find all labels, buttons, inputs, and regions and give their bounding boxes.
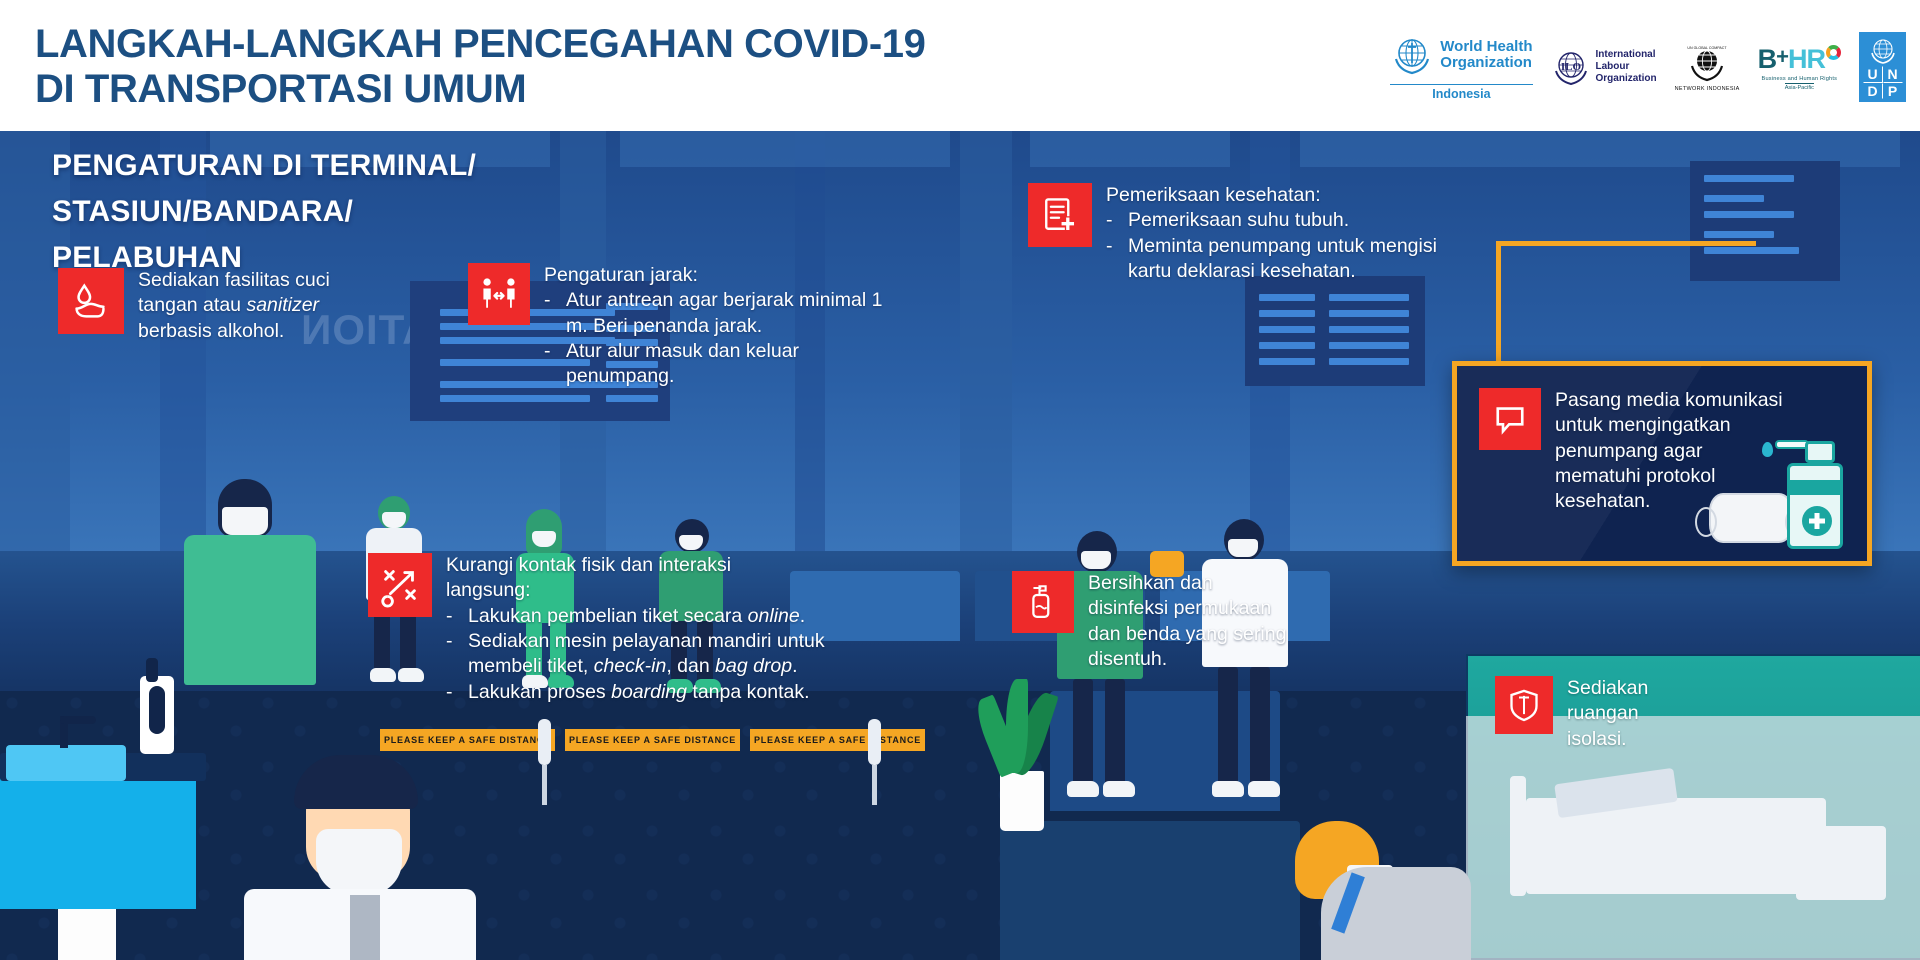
panel-hanger-vertical	[1496, 241, 1501, 366]
svg-text:ILO: ILO	[1560, 61, 1581, 73]
pillar	[960, 131, 1012, 561]
communication-panel: Pasang media komunikasi untuk mengingatk…	[1452, 361, 1872, 566]
sdg-ring-icon	[1826, 45, 1841, 60]
floor-distance-tape: PLEASE KEEP A SAFE DISTANCE	[565, 729, 740, 751]
bullet-dash: -	[446, 604, 458, 629]
health-check-bullet: - Pemeriksaan suhu tubuh.	[1106, 208, 1448, 233]
bullet-dash: -	[446, 629, 458, 680]
ungc-caption: NETWORK INDONESIA	[1675, 86, 1740, 92]
b3-em: boarding	[611, 681, 687, 703]
callout-distancing: Pengaturan jarak: - Atur antrean agar be…	[468, 263, 888, 390]
sanitizer-bottle-illustration	[1787, 463, 1843, 549]
b3-b: tanpa kontak.	[687, 681, 810, 703]
undp-letter-p: P	[1883, 83, 1903, 100]
b2-c: .	[792, 655, 797, 677]
ilo-line3: Organization	[1596, 73, 1657, 84]
bullet-text: Atur alur masuk dan keluar penumpang.	[566, 339, 888, 390]
handwash-line2-em: sanitizer	[246, 294, 319, 316]
bullet-dash: -	[1106, 234, 1118, 285]
physical-distancing-icon	[468, 263, 530, 325]
who-logo: World Health Organization Indonesia	[1390, 33, 1532, 101]
sink-basin	[6, 745, 126, 781]
undp-emblem-icon	[1869, 36, 1897, 64]
disinfect-line4: disentuh.	[1088, 647, 1286, 672]
faucet-icon	[60, 716, 68, 748]
bullet-text: Atur antrean agar berjarak minimal 1 m. …	[566, 288, 888, 339]
callout-reduce-contact: Kurangi kontak fisik dan interaksi langs…	[368, 553, 838, 705]
pump-cap	[1805, 441, 1835, 463]
window-band	[620, 131, 950, 167]
health-check-bullets: - Pemeriksaan suhu tubuh. - Meminta penu…	[1106, 208, 1448, 284]
panel-artwork	[1703, 433, 1853, 553]
floor-distance-tape: PLEASE KEEP A SAFE DISTANCE	[750, 729, 925, 751]
who-line2: Organization	[1440, 54, 1532, 71]
distancing-bullet: - Atur antrean agar berjarak minimal 1 m…	[544, 288, 888, 339]
bhr-hr: HR	[1788, 44, 1825, 75]
health-check-heading: Pemeriksaan kesehatan:	[1106, 183, 1448, 208]
reduce-contact-icon	[368, 553, 432, 617]
health-declaration-icon	[1028, 183, 1092, 247]
floor-distance-tape: PLEASE KEEP A SAFE DISTANCE	[380, 729, 555, 751]
callout-health-check-text: Pemeriksaan kesehatan: - Pemeriksaan suh…	[1106, 183, 1448, 284]
communication-line1: Pasang media komunikasi	[1555, 388, 1810, 413]
b3-a: Lakukan proses	[468, 681, 611, 703]
logo-strip: World Health Organization Indonesia ILO	[1390, 22, 1906, 112]
disinfectant-bottle-icon	[1012, 571, 1074, 633]
face-mask-illustration	[1709, 493, 1793, 543]
undp-letter-d: D	[1863, 83, 1883, 100]
callout-handwash: Sediakan fasilitas cuci tangan atau sani…	[58, 268, 398, 344]
who-logo-text: World Health Organization	[1440, 39, 1532, 70]
ilo-logo-text: International Labour Organization	[1596, 49, 1657, 86]
callout-isolation: Sediakan ruangan isolasi.	[1495, 676, 1795, 752]
bullet-dash: -	[544, 288, 556, 339]
bhr-wordmark: B + HR	[1758, 44, 1841, 75]
pump-nozzle	[1775, 440, 1809, 449]
callout-disinfect: Bersihkan dan disinfeksi permukaan dan b…	[1012, 571, 1342, 672]
bhr-plus: +	[1776, 44, 1788, 70]
b1-b: .	[800, 605, 805, 627]
poster-header: LANGKAH-LANGKAH PENCEGAHAN COVID-19 DI T…	[0, 0, 1920, 131]
svg-text:UN GLOBAL COMPACT: UN GLOBAL COMPACT	[1688, 46, 1728, 50]
callout-isolation-text: Sediakan ruangan isolasi.	[1567, 676, 1648, 752]
distancing-bullet: - Atur alur masuk dan keluar penumpang.	[544, 339, 888, 390]
reduce-contact-heading1: Kurangi kontak fisik dan interaksi	[446, 553, 838, 578]
who-line1: World Health	[1440, 38, 1532, 55]
hand-wash-icon	[58, 268, 124, 334]
poster-title: LANGKAH-LANGKAH PENCEGAHAN COVID-19 DI T…	[35, 22, 1035, 112]
isolation-line2: ruangan	[1567, 701, 1648, 726]
section-title-line2: STASIUN/BANDARA/	[52, 189, 522, 235]
section-title-line1: PENGATURAN DI TERMINAL/	[52, 143, 522, 189]
ungc-emblem-icon: UN GLOBAL COMPACT	[1686, 42, 1728, 84]
ilo-logo: ILO International Labour Organization	[1551, 47, 1657, 87]
callout-handwash-text: Sediakan fasilitas cuci tangan atau sani…	[138, 268, 330, 344]
bullet-text: Meminta penumpang untuk mengisi kartu de…	[1128, 234, 1448, 285]
wash-counter	[0, 769, 196, 909]
section-title: PENGATURAN DI TERMINAL/ STASIUN/BANDARA/…	[52, 143, 522, 281]
b1-a: Lakukan pembelian tiket secara	[468, 605, 748, 627]
queue-stanchion	[868, 719, 881, 765]
reduce-contact-bullet: - Lakukan pembelian tiket secara online.	[446, 604, 838, 629]
window-band	[1030, 131, 1230, 167]
who-country: Indonesia	[1390, 84, 1532, 101]
callout-distancing-text: Pengaturan jarak: - Atur antrean agar be…	[544, 263, 888, 390]
un-global-compact-logo: UN GLOBAL COMPACT NETWORK INDONESIA	[1675, 42, 1740, 92]
water-drop-illustration	[1762, 442, 1773, 457]
bhr-b: B	[1758, 44, 1777, 75]
infographic-poster: LANGKAH-LANGKAH PENCEGAHAN COVID-19 DI T…	[0, 0, 1920, 960]
callout-health-check: Pemeriksaan kesehatan: - Pemeriksaan suh…	[1028, 183, 1448, 284]
cleaner-figure	[1285, 821, 1475, 960]
b1-em: online	[748, 605, 800, 627]
handwash-line3: berbasis alkohol.	[138, 319, 330, 344]
handwash-line1: Sediakan fasilitas cuci	[138, 268, 330, 293]
speech-bubble-icon	[1479, 388, 1541, 450]
callout-reduce-contact-text: Kurangi kontak fisik dan interaksi langs…	[446, 553, 838, 705]
panel-hanger-horizontal	[1496, 241, 1756, 246]
bullet-dash: -	[1106, 208, 1118, 233]
ilo-line1: International	[1596, 49, 1656, 60]
who-emblem-icon	[1390, 33, 1434, 77]
poster-title-line1: LANGKAH-LANGKAH PENCEGAHAN COVID-19	[35, 22, 925, 66]
bhr-subtitle: Business and Human Rights	[1762, 76, 1838, 82]
ilo-line2: Labour	[1596, 61, 1630, 72]
staff-figure-laptop	[230, 763, 500, 960]
undp-letters: U N D P	[1863, 66, 1903, 99]
reduce-contact-bullets: - Lakukan pembelian tiket secara online.…	[446, 604, 838, 705]
shield-icon	[1495, 676, 1553, 734]
ilo-emblem-icon: ILO	[1551, 47, 1591, 87]
callout-disinfect-text: Bersihkan dan disinfeksi permukaan dan b…	[1088, 571, 1286, 672]
undp-logo: U N D P	[1859, 32, 1906, 102]
queue-stanchion	[538, 719, 551, 765]
distancing-heading: Pengaturan jarak:	[544, 263, 888, 288]
passenger-figure-green-shirt	[178, 479, 338, 709]
bench	[1000, 821, 1300, 960]
distancing-bullets: - Atur antrean agar berjarak minimal 1 m…	[544, 288, 888, 389]
poster-title-line2: DI TRANSPORTASI UMUM	[35, 67, 1035, 112]
disinfect-line2: disinfeksi permukaan	[1088, 596, 1286, 621]
soap-dispenser	[140, 676, 174, 754]
undp-letter-n: N	[1883, 66, 1903, 83]
info-board	[1690, 161, 1840, 281]
handwash-line2: tangan atau sanitizer	[138, 293, 330, 318]
handwash-line2-a: tangan atau	[138, 294, 246, 316]
b2-b: , dan	[666, 655, 715, 677]
b2-em2: bag drop	[715, 655, 792, 677]
bullet-dash: -	[446, 680, 458, 705]
reduce-contact-bullet: - Sediakan mesin pelayanan mandiri untuk…	[446, 629, 838, 680]
health-check-bullet: - Meminta penumpang untuk mengisi kartu …	[1106, 234, 1448, 285]
bullet-text: Pemeriksaan suhu tubuh.	[1128, 208, 1448, 233]
bullet-text: Sediakan mesin pelayanan mandiri untuk m…	[468, 629, 838, 680]
disinfect-line3: dan benda yang sering	[1088, 622, 1286, 647]
bullet-text: Lakukan proses boarding tanpa kontak.	[468, 680, 838, 705]
reduce-contact-heading2: langsung:	[446, 578, 838, 603]
isolation-room-glass	[1466, 716, 1920, 960]
bhr-region: Asia-Pacific	[1785, 83, 1814, 91]
info-board	[1245, 276, 1425, 386]
b2-em: check-in	[594, 655, 667, 677]
reduce-contact-bullet: - Lakukan proses boarding tanpa kontak.	[446, 680, 838, 705]
isolation-line1: Sediakan	[1567, 676, 1648, 701]
undp-letter-u: U	[1863, 66, 1883, 83]
bullet-text: Lakukan pembelian tiket secara online.	[468, 604, 838, 629]
disinfect-line1: Bersihkan dan	[1088, 571, 1286, 596]
bullet-dash: -	[544, 339, 556, 390]
isolation-line3: isolasi.	[1567, 727, 1648, 752]
station-illustration: STATION	[0, 131, 1920, 960]
bhr-logo: B + HR Business and Human Rights Asia-Pa…	[1758, 44, 1841, 91]
